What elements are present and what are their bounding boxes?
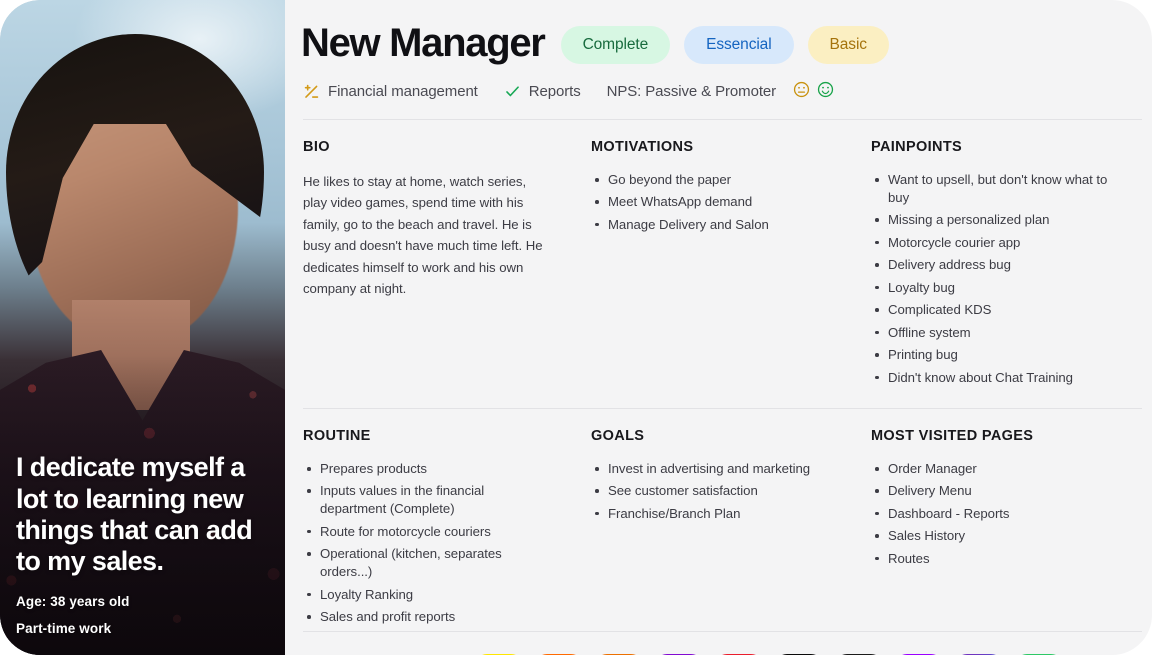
section-title: ROUTINE — [303, 428, 591, 444]
most-visited-list: Order Manager Delivery Menu Dashboard - … — [871, 460, 1146, 568]
goals-list: Invest in advertising and marketing See … — [591, 460, 871, 523]
section-title: PAINPOINTS — [871, 139, 1146, 155]
plus-minus-icon — [303, 83, 320, 100]
section-grid-middle: ROUTINE Prepares products Inputs values … — [301, 428, 1146, 631]
persona-work-type: Part-time work — [16, 619, 271, 639]
list-item: Invest in advertising and marketing — [591, 460, 829, 478]
plan-badges: Complete Essencial Basic — [561, 22, 889, 64]
persona-photo-panel: I dedicate myself a lot to learning new … — [0, 0, 285, 655]
list-item: Delivery Menu — [871, 482, 1109, 500]
tag-nps: NPS: Passive & Promoter — [607, 81, 834, 102]
section-bio: BIO He likes to stay at home, watch seri… — [303, 139, 591, 391]
list-item: Manage Delivery and Salon — [591, 216, 829, 234]
divider-header — [303, 119, 1142, 120]
list-item: Route for motorcycle couriers — [303, 523, 541, 541]
tag-financial-management: Financial management — [303, 83, 478, 100]
list-item: Inputs values in the financial departmen… — [303, 482, 541, 518]
section-grid-top: BIO He likes to stay at home, watch seri… — [301, 139, 1146, 391]
persona-tags: Financial management Reports NPS: Passiv… — [301, 81, 1146, 102]
list-item: Dashboard - Reports — [871, 505, 1109, 523]
section-motivations: MOTIVATIONS Go beyond the paper Meet Wha… — [591, 139, 871, 391]
section-painpoints: PAINPOINTS Want to upsell, but don't kno… — [871, 139, 1146, 391]
neutral-face-icon — [793, 81, 810, 102]
list-item: Go beyond the paper — [591, 171, 829, 189]
tag-label: NPS: Passive & Promoter — [607, 83, 776, 100]
divider-middle — [303, 408, 1142, 409]
persona-header: New Manager Complete Essencial Basic — [301, 22, 1146, 64]
list-item: Sales and profit reports — [303, 608, 541, 626]
persona-quote: I dedicate myself a lot to learning new … — [16, 452, 271, 577]
list-item: Operational (kitchen, separates orders..… — [303, 545, 541, 581]
section-title: BIO — [303, 139, 591, 155]
routine-list: Prepares products Inputs values in the f… — [303, 460, 591, 626]
tag-label: Financial management — [328, 83, 478, 100]
list-item: Order Manager — [871, 460, 1109, 478]
motivations-list: Go beyond the paper Meet WhatsApp demand… — [591, 171, 871, 234]
page-title: New Manager — [301, 22, 545, 64]
list-item: Offline system — [871, 324, 1109, 342]
list-item: Missing a personalized plan — [871, 211, 1109, 229]
badge-essencial[interactable]: Essencial — [684, 26, 793, 64]
list-item: Want to upsell, but don't know what to b… — [871, 171, 1109, 207]
photo-text-overlay: I dedicate myself a lot to learning new … — [16, 452, 271, 639]
badge-basic[interactable]: Basic — [808, 26, 889, 64]
list-item: Loyalty Ranking — [303, 586, 541, 604]
persona-card: I dedicate myself a lot to learning new … — [0, 0, 1152, 655]
list-item: Didn't know about Chat Training — [871, 369, 1109, 387]
bio-text: He likes to stay at home, watch series, … — [303, 171, 553, 299]
list-item: Sales History — [871, 527, 1109, 545]
tag-reports: Reports — [504, 83, 581, 100]
smiling-face-icon — [817, 81, 834, 102]
divider-brands — [303, 631, 1142, 632]
list-item: Routes — [871, 550, 1109, 568]
list-item: Printing bug — [871, 346, 1109, 364]
list-item: Meet WhatsApp demand — [591, 193, 829, 211]
section-goals: GOALS Invest in advertising and marketin… — [591, 428, 871, 631]
check-icon — [504, 83, 521, 100]
nps-face-icons — [793, 81, 834, 102]
persona-content: New Manager Complete Essencial Basic Fin… — [285, 0, 1152, 655]
painpoints-list: Want to upsell, but don't know what to b… — [871, 171, 1146, 387]
section-title: MOTIVATIONS — [591, 139, 871, 155]
list-item: Franchise/Branch Plan — [591, 505, 829, 523]
persona-age: Age: 38 years old — [16, 592, 271, 612]
section-title: GOALS — [591, 428, 871, 444]
tag-label: Reports — [529, 83, 581, 100]
list-item: Loyalty bug — [871, 279, 1109, 297]
badge-complete[interactable]: Complete — [561, 26, 671, 64]
list-item: Motorcycle courier app — [871, 234, 1109, 252]
list-item: See customer satisfaction — [591, 482, 829, 500]
section-most-visited-pages: MOST VISITED PAGES Order Manager Deliver… — [871, 428, 1146, 631]
list-item: Complicated KDS — [871, 301, 1109, 319]
list-item: Delivery address bug — [871, 256, 1109, 274]
section-routine: ROUTINE Prepares products Inputs values … — [303, 428, 591, 631]
list-item: Prepares products — [303, 460, 541, 478]
section-title: MOST VISITED PAGES — [871, 428, 1146, 444]
